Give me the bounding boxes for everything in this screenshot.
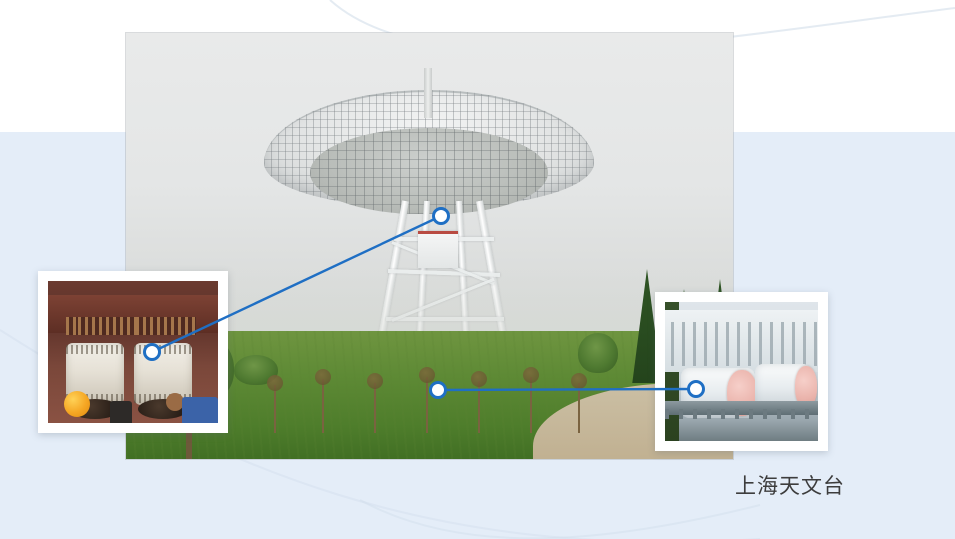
inset-left-frame	[38, 271, 228, 433]
worker-body	[110, 401, 132, 423]
slide-canvas: 上海天文台	[0, 0, 955, 539]
sapling	[274, 385, 276, 433]
sapling	[578, 383, 580, 433]
cylinder-bolt-ring	[66, 345, 124, 354]
inset-right-frame	[655, 292, 828, 451]
feed-mast	[424, 68, 432, 118]
control-hut	[418, 231, 458, 268]
cylinder-unit	[134, 343, 192, 405]
orange-marker-ball	[64, 391, 90, 417]
inset-right-image	[665, 302, 818, 441]
sapling	[426, 377, 428, 433]
sapling	[530, 377, 532, 433]
worker-body	[182, 397, 218, 423]
anchor-bolts	[665, 409, 818, 419]
sapling	[322, 379, 324, 433]
cooling-fins	[671, 322, 818, 366]
photo-caption: 上海天文台	[735, 470, 845, 500]
gear-teeth	[78, 317, 136, 335]
sapling	[374, 383, 376, 433]
cylinder-bolt-ring	[134, 345, 192, 354]
tree-canopy	[578, 333, 618, 373]
sapling	[478, 381, 480, 433]
inset-left-image	[48, 281, 218, 423]
